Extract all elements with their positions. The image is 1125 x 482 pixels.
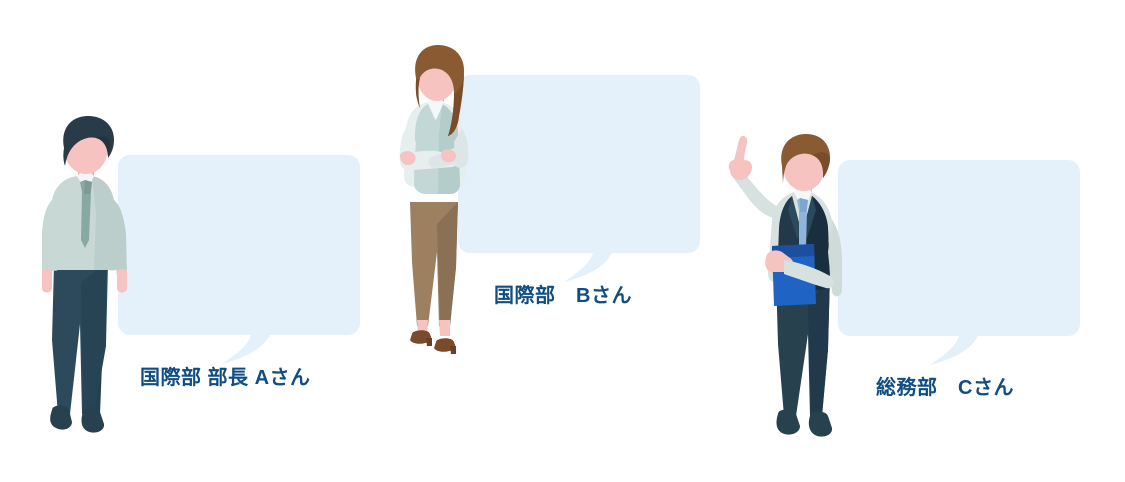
- ankle-right-b: [439, 320, 450, 336]
- label-speaker-c: 総務部 Cさん: [876, 378, 1014, 398]
- figure-person-b: [392, 44, 496, 356]
- trousers-shadow-a: [81, 264, 106, 414]
- figure-person-a: [34, 114, 154, 444]
- bubble-shape-c: [838, 160, 1080, 365]
- bubble-shape-a: [118, 155, 360, 364]
- shoe-right-a: [82, 408, 105, 433]
- label-speaker-b: 国際部 Bさん: [494, 286, 632, 306]
- speech-bubble-c: [838, 160, 1080, 371]
- illustration-canvas: 国際部 部長 Aさん 国際部 Bさん 総務部 Cさん: [0, 0, 1125, 482]
- hand-right-a: [117, 269, 127, 293]
- hand-left-a: [42, 269, 52, 293]
- shoe-right-c: [809, 412, 832, 437]
- heel-right-b: [450, 346, 456, 354]
- figure-person-c: [718, 134, 844, 444]
- label-speaker-a: 国際部 部長 Aさん: [140, 368, 311, 388]
- speech-bubble-a: [118, 155, 360, 370]
- pointing-hand-c: [729, 136, 752, 180]
- heel-left-b: [426, 338, 432, 346]
- shoe-left-c: [777, 410, 800, 435]
